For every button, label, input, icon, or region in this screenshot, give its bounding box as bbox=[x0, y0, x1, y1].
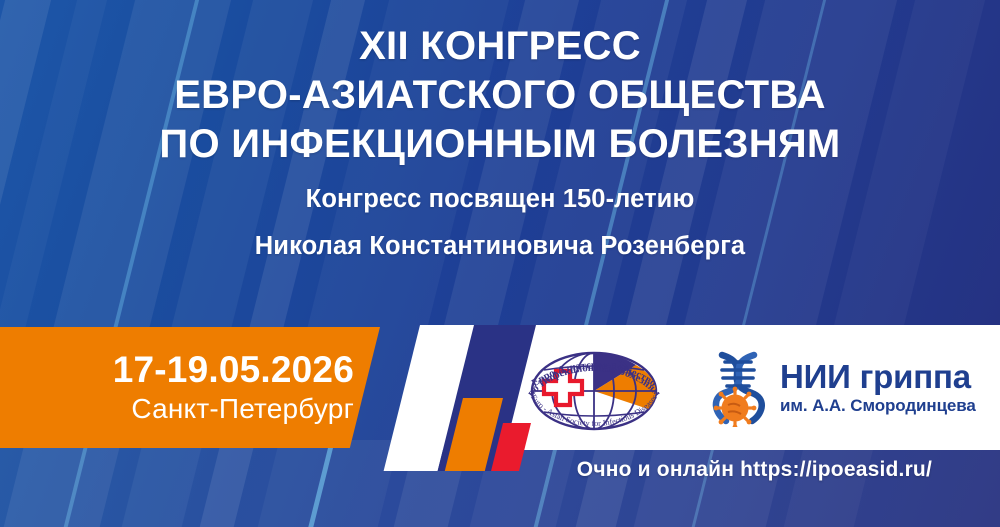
dna-helix-virus-icon bbox=[708, 349, 770, 427]
nii-logo-subtitle: им. А.А. Смородинцева bbox=[780, 395, 976, 417]
congress-date: 17-19.05.2026 bbox=[113, 349, 354, 391]
format-and-url-text[interactable]: Очно и онлайн https://ipoeasid.ru/ bbox=[577, 458, 932, 482]
congress-city: Санкт-Петербург bbox=[131, 391, 354, 427]
subtitle-line-1: Конгресс посвящен 150-летию bbox=[0, 183, 1000, 216]
format-and-url-line[interactable]: Очно и онлайн https://ipoeasid.ru/ bbox=[0, 450, 1000, 490]
date-text-block: 17-19.05.2026 Санкт-Петербург bbox=[0, 327, 376, 448]
title-line-1: XII КОНГРЕСС bbox=[0, 22, 1000, 71]
globe-with-red-cross-icon: Евро-Азиатское Общество по Инфекционным … bbox=[508, 329, 680, 441]
nii-grippa-logo: НИИ гриппа им. А.А. Смородинцева bbox=[708, 349, 976, 427]
virus-particle-icon bbox=[714, 386, 757, 426]
congress-banner: XII КОНГРЕСС ЕВРО-АЗИАТСКОГО ОБЩЕСТВА ПО… bbox=[0, 0, 1000, 527]
easid-logo: Евро-Азиатское Общество по Инфекционным … bbox=[508, 329, 680, 446]
title-line-2: ЕВРО-АЗИАТСКОГО ОБЩЕСТВА bbox=[0, 71, 1000, 120]
subtitle-line-2: Николая Константиновича Розенберга bbox=[0, 230, 1000, 263]
banner-headline: XII КОНГРЕСС ЕВРО-АЗИАТСКОГО ОБЩЕСТВА ПО… bbox=[0, 22, 1000, 263]
title-line-3: ПО ИНФЕКЦИОННЫМ БОЛЕЗНЯМ bbox=[0, 120, 1000, 169]
nii-logo-name: НИИ гриппа bbox=[780, 359, 976, 395]
